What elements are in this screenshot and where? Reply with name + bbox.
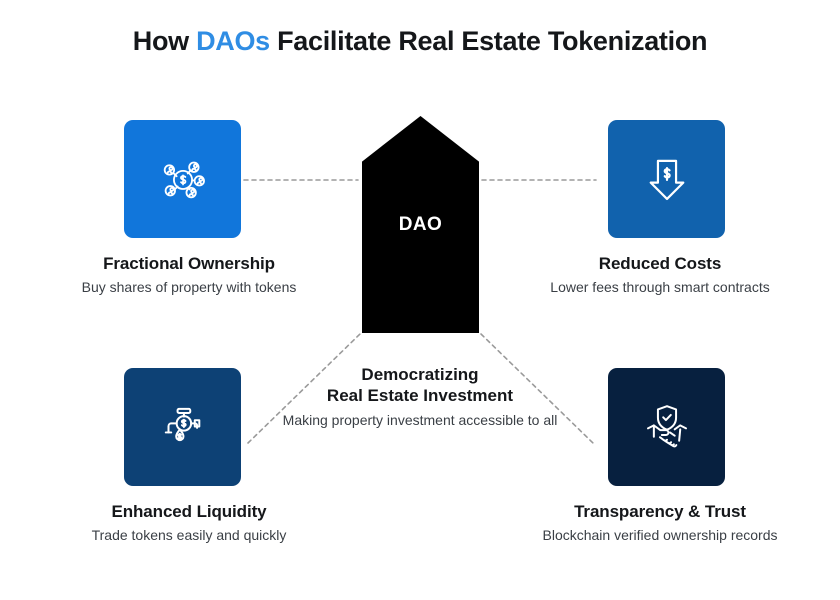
feature-title-enhanced-liquidity: Enhanced Liquidity xyxy=(59,502,319,522)
feature-tile-enhanced-liquidity[interactable] xyxy=(124,368,241,486)
feature-title-fractional-ownership: Fractional Ownership xyxy=(59,254,319,274)
central-house: DAO xyxy=(362,116,479,333)
feature-reduced-costs[interactable]: Reduced Costs Lower fees through smart c… xyxy=(530,120,790,295)
shield-handshake-icon xyxy=(638,398,696,456)
feature-title-transparency-trust: Transparency & Trust xyxy=(530,502,790,522)
feature-subtitle-enhanced-liquidity: Trade tokens easily and quickly xyxy=(59,527,319,543)
page-title: How DAOs Facilitate Real Estate Tokeniza… xyxy=(0,26,840,57)
feature-enhanced-liquidity[interactable]: Enhanced Liquidity Trade tokens easily a… xyxy=(59,368,319,543)
house-label: DAO xyxy=(362,214,479,236)
feature-tile-transparency-trust[interactable] xyxy=(608,368,725,486)
feature-transparency-trust[interactable]: Transparency & Trust Blockchain verified… xyxy=(530,368,790,543)
feature-tile-fractional-ownership[interactable] xyxy=(124,120,241,238)
money-faucet-icon xyxy=(154,398,212,456)
infographic-canvas: How DAOs Facilitate Real Estate Tokeniza… xyxy=(0,0,840,600)
page-title-accent: DAOs xyxy=(196,26,270,56)
feature-subtitle-fractional-ownership: Buy shares of property with tokens xyxy=(59,279,319,295)
feature-fractional-ownership[interactable]: Fractional Ownership Buy shares of prope… xyxy=(59,120,319,295)
fractional-ownership-icon xyxy=(154,150,212,208)
cost-down-arrow-icon xyxy=(638,150,696,208)
feature-title-reduced-costs: Reduced Costs xyxy=(530,254,790,274)
feature-subtitle-reduced-costs: Lower fees through smart contracts xyxy=(530,279,790,295)
feature-subtitle-transparency-trust: Blockchain verified ownership records xyxy=(530,527,790,543)
page-title-after: Facilitate Real Estate Tokenization xyxy=(270,26,707,56)
feature-tile-reduced-costs[interactable] xyxy=(608,120,725,238)
page-title-before: How xyxy=(133,26,196,56)
